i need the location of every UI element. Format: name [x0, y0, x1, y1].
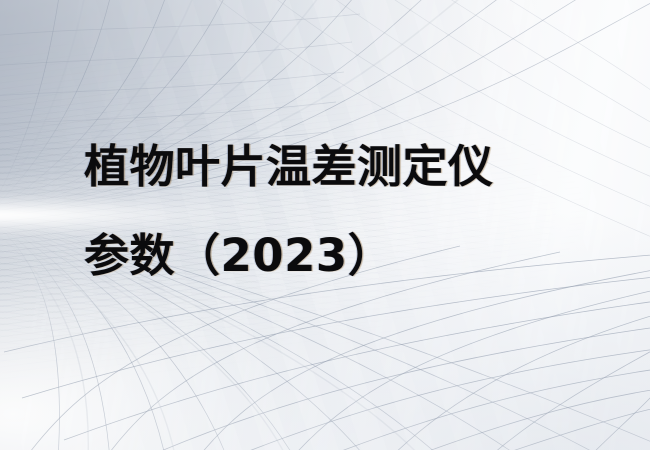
slide-title-line-2: 参数（2023） — [84, 211, 604, 300]
slide-title-line-1: 植物叶片温差测定仪 — [84, 122, 604, 211]
slide-title-block: 植物叶片温差测定仪 参数（2023） — [84, 122, 604, 300]
title-slide: 植物叶片温差测定仪 参数（2023） — [0, 0, 650, 450]
